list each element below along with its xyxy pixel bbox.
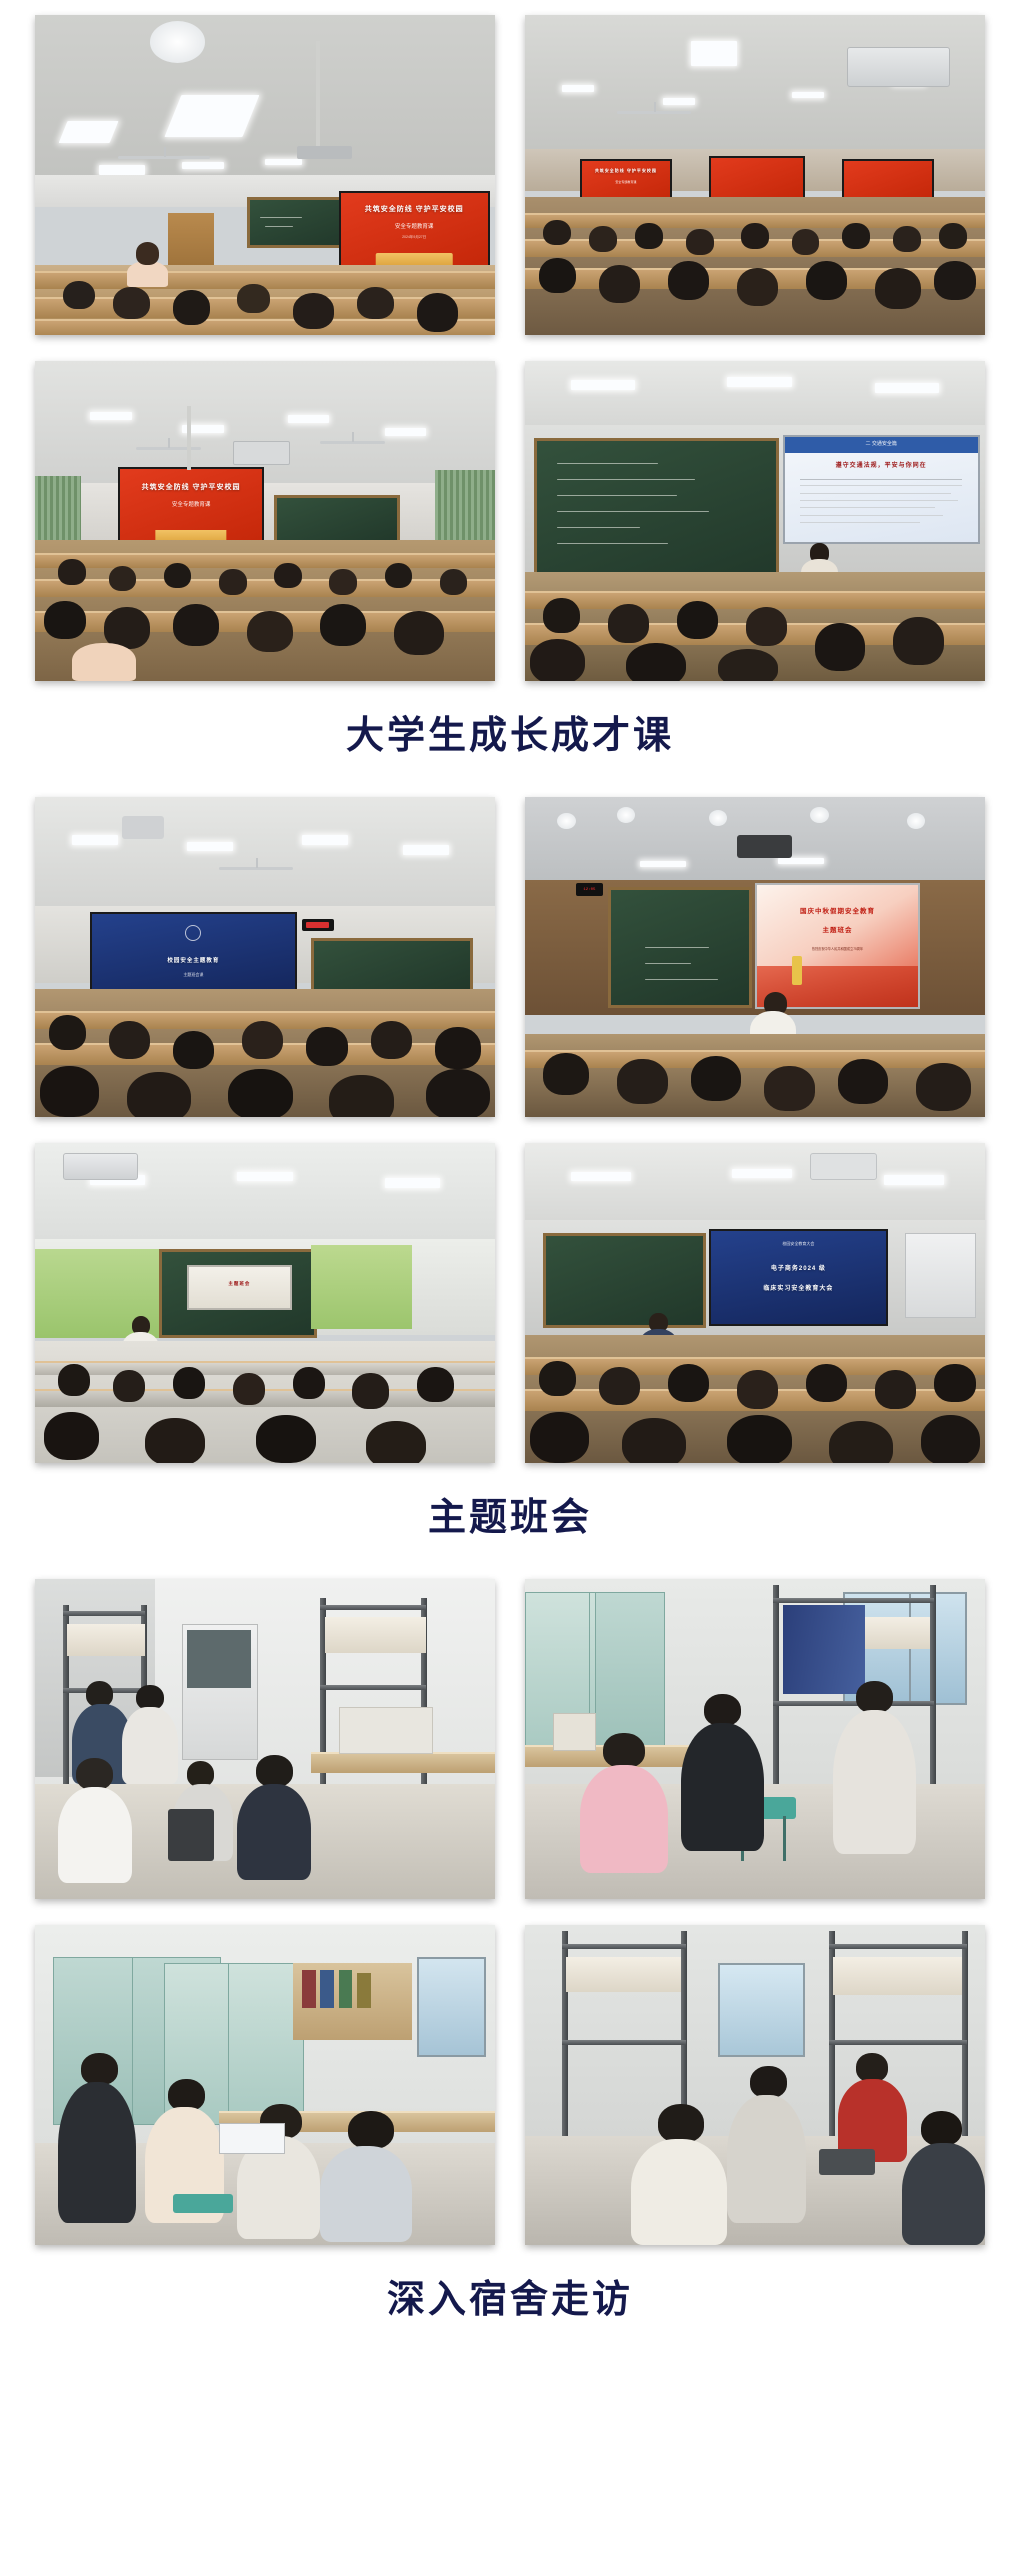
slide-subtitle: 安全专题教育课 (341, 222, 488, 230)
photo-meeting-1[interactable]: 校园安全主题教育 主题班会课 (35, 797, 495, 1117)
digital-clock: 12:05 (583, 888, 595, 892)
slide-title: 校园安全主题教育 (92, 956, 294, 964)
dorm-talk-scene (525, 1925, 985, 2245)
slide-title: 国庆中秋假期安全教育 (757, 905, 918, 915)
meeting-hall-scene: 校园安全主题教育 主题班会课 (35, 797, 495, 1117)
female-dorm-scene (525, 1579, 985, 1899)
slide-header: 校园安全教育大会 (711, 1241, 886, 1247)
classroom-side-scene: 共筑安全防线 守护平安校园 安全专题教育课 (35, 361, 495, 681)
projector-screen: 校园安全主题教育 主题班会课 (90, 912, 296, 996)
photo-dorm-4[interactable] (525, 1925, 985, 2245)
slide-subtitle: 临床实习安全教育大会 (711, 1283, 886, 1292)
section-caption-meeting: 主题班会 (0, 1499, 1020, 1537)
photo-collage-page: 共筑安全防线 守护平安校园 安全专题教育课 2024年9月27日 (0, 0, 1020, 2575)
section-theme-meeting: 校园安全主题教育 主题班会课 (0, 755, 1020, 1537)
photo-grid-meeting: 校园安全主题教育 主题班会课 (0, 797, 1020, 1463)
photo-grid-dorm (0, 1579, 1020, 2245)
photo-meeting-3[interactable]: 主题班会 (35, 1143, 495, 1463)
projector-screen: 共筑安全防线 守护平安校园 安全专题教育课 2024年9月27日 (339, 191, 490, 275)
photo-dorm-2[interactable] (525, 1579, 985, 1899)
section-dorm-visits: 深入宿舍走访 (0, 1537, 1020, 2319)
male-dorm-scene (35, 1579, 495, 1899)
slide-date: 2024年9月27日 (341, 235, 488, 240)
photo-meeting-2[interactable]: 12:05 国庆中秋假期安全教育 主题班会 热烈庆祝中华人民共和国成立75周年 (525, 797, 985, 1117)
slide-title: 共筑安全防线 守护平安校园 (582, 168, 669, 174)
photo-dorm-3[interactable] (35, 1925, 495, 2245)
slide-title: 电子商务2024 级 (711, 1263, 886, 1272)
photo-growth-1[interactable]: 共筑安全防线 守护平安校园 安全专题教育课 2024年9月27日 (35, 15, 495, 335)
projector-screen: 主题班会 (187, 1265, 292, 1311)
slide-title: 共筑安全防线 守护平安校园 (120, 482, 263, 492)
slide-subtitle: 主题班会 (757, 924, 918, 934)
slide-subtitle: 主题班会课 (92, 972, 294, 978)
green-wall-classroom-scene: 主题班会 (35, 1143, 495, 1463)
slide-subtitle: 安全专题教育课 (582, 180, 669, 184)
photo-growth-2[interactable]: 共筑安全防线 守护平安校园 安全专题教育课 (525, 15, 985, 335)
photo-growth-3[interactable]: 共筑安全防线 守护平安校园 安全专题教育课 (35, 361, 495, 681)
festival-safety-scene: 12:05 国庆中秋假期安全教育 主题班会 热烈庆祝中华人民共和国成立75周年 (525, 797, 985, 1117)
photo-growth-4[interactable]: 二 交通安全篇 遵守交通法规，平安与你同在 (525, 361, 985, 681)
slide-subtitle: 安全专题教育课 (120, 500, 263, 508)
traffic-safety-scene: 二 交通安全篇 遵守交通法规，平安与你同在 (525, 361, 985, 681)
lecture-hall-scene: 共筑安全防线 守护平安校园 安全专题教育课 (525, 15, 985, 335)
photo-meeting-4[interactable]: 校园安全教育大会 电子商务2024 级 临床实习安全教育大会 (525, 1143, 985, 1463)
slide-title: 遵守交通法规，平安与你同在 (785, 460, 978, 469)
slide-title: 主题班会 (189, 1281, 290, 1287)
classroom-scene: 共筑安全防线 守护平安校园 安全专题教育课 2024年9月27日 (35, 15, 495, 335)
photo-grid-growth: 共筑安全防线 守护平安校园 安全专题教育课 2024年9月27日 (0, 15, 1020, 681)
dorm-laptop-scene (35, 1925, 495, 2245)
slide-title: 共筑安全防线 守护平安校园 (341, 204, 488, 214)
slide-note: 热烈庆祝中华人民共和国成立75周年 (757, 946, 918, 951)
projector-screen: 校园安全教育大会 电子商务2024 级 临床实习安全教育大会 (709, 1229, 888, 1326)
projector-screen: 二 交通安全篇 遵守交通法规，平安与你同在 (783, 435, 980, 545)
projector-screen: 国庆中秋假期安全教育 主题班会 热烈庆祝中华人民共和国成立75周年 (755, 883, 920, 1009)
photo-dorm-1[interactable] (35, 1579, 495, 1899)
section-caption-growth: 大学生成长成才课 (0, 717, 1020, 755)
internship-safety-scene: 校园安全教育大会 电子商务2024 级 临床实习安全教育大会 (525, 1143, 985, 1463)
section-growth-class: 共筑安全防线 守护平安校园 安全专题教育课 2024年9月27日 (0, 0, 1020, 755)
slide-header: 二 交通安全篇 (785, 440, 978, 447)
section-caption-dorm: 深入宿舍走访 (0, 2281, 1020, 2319)
